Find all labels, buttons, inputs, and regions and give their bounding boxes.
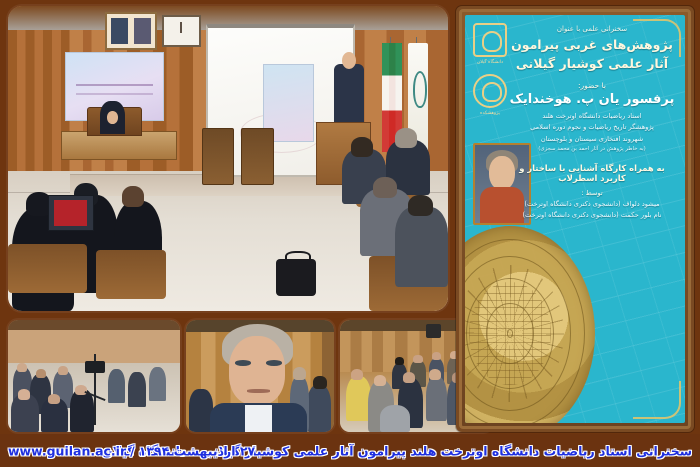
poster-content: دانشگاه گیلان پژوهشکده سخنرانی علمی با ع… xyxy=(465,15,685,423)
astrolabe-icon xyxy=(465,226,595,423)
empty-chair xyxy=(241,128,274,185)
wall-clock-icon xyxy=(162,15,201,46)
corner-ornament-icon xyxy=(633,381,681,419)
university-of-guilan-logo xyxy=(473,23,507,57)
professor-eye xyxy=(266,360,282,366)
poster-with-label: با حضور: xyxy=(509,81,675,90)
logo-caption: دانشگاه گیلان xyxy=(471,60,509,67)
poster-organizer: نام بلور حکمت (دانشجوی دکتری دانشگاه اوت… xyxy=(509,210,675,222)
hall-ceiling xyxy=(8,320,180,330)
professor-mouth xyxy=(247,389,271,392)
poster-speaker-line: استاد ریاضیات دانشگاه اوترخت هلند xyxy=(509,111,675,123)
collage-canvas: دانشگاه گیلان پژوهشکده سخنرانی علمی با ع… xyxy=(0,0,700,467)
professor-portrait-scene xyxy=(186,320,334,432)
institute-logo xyxy=(473,74,507,108)
poster-by-label: توسط : xyxy=(509,189,675,197)
poster-eyebrow: سخنرانی علمی با عنوان xyxy=(509,25,675,33)
wall-speaker-icon xyxy=(426,324,441,337)
moderator-person xyxy=(100,101,124,135)
professor-eye xyxy=(235,360,251,366)
poster-title: پژوهش‌های غربی پیرامون آثار علمی کوشیار … xyxy=(509,36,675,74)
footer-meta: ۲۷ اردیبهشت ۱۳۹۴ / www.guilan.ac.ir xyxy=(8,443,255,458)
audience-wide-photo xyxy=(8,320,180,432)
footer-date: ۲۷ اردیبهشت ۱۳۹۴ xyxy=(139,443,255,458)
laptop-bag xyxy=(276,259,316,296)
poster-speaker-name: پرفسور یان پ. هوخندایک xyxy=(509,92,675,107)
poster-organizer: میشود دلواف (دانشجوی دکتری دانشگاه اوترخ… xyxy=(509,199,675,211)
logo-caption: پژوهشکده xyxy=(471,111,509,118)
audience-wide-scene xyxy=(8,320,180,432)
leaders-portrait-frame xyxy=(105,12,157,50)
lecture-hall-scene xyxy=(8,6,448,311)
lecture-hall-wide-photo xyxy=(8,6,448,311)
professor-shirt xyxy=(245,405,272,432)
event-poster: دانشگاه گیلان پژوهشکده سخنرانی علمی با ع… xyxy=(456,6,694,432)
poster-text-block: سخنرانی علمی با عنوان پژوهش‌های غربی پیر… xyxy=(509,25,675,222)
footer-website-link[interactable]: www.guilan.ac.ir xyxy=(8,443,126,458)
speaker-head xyxy=(342,52,356,69)
empty-chair xyxy=(202,128,235,185)
poster-logos: دانشگاه گیلان پژوهشکده xyxy=(471,23,509,124)
professor-face xyxy=(229,336,285,405)
laptop-screen xyxy=(48,195,94,231)
poster-speaker-line: پژوهشگر تاریخ ریاضیات و نجوم دوره اسلامی xyxy=(509,122,675,134)
footer-separator: / xyxy=(130,443,135,458)
poster-workshop-line: به همراه کارگاه آشنایی با ساختار و کاربر… xyxy=(509,163,675,183)
camera-tripod xyxy=(94,354,96,426)
poster-speaker-note: (به خاطر پژوهش در آثار احمد بن محمد سجزی… xyxy=(509,145,675,154)
footer-caption-bar: سخنرانی استاد ریاضیات دانشگاه اوترخت هلن… xyxy=(0,434,700,467)
poster-speaker-line: شهروند افتخاری سیستان و بلوچستان xyxy=(509,134,675,146)
professor-portrait-photo xyxy=(186,320,334,432)
